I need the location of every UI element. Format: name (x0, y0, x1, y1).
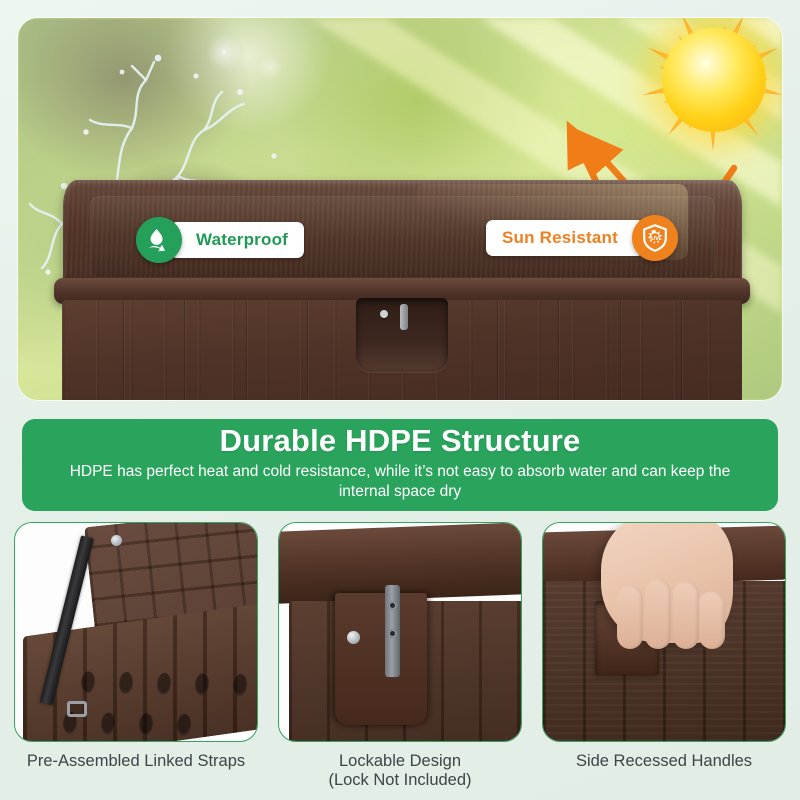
product-hero-image: Waterproof Sun Resistant UV (18, 18, 782, 400)
water-drop-icon (136, 217, 182, 263)
banner-subtitle: HDPE has perfect heat and cold resistanc… (46, 462, 754, 501)
lock-hole-icon (380, 310, 388, 318)
hasp-screw-icon (347, 631, 360, 644)
badge-sun-resistant-label: Sun Resistant (486, 220, 644, 256)
strap-screw-icon (111, 535, 122, 546)
feature-image-handles (542, 522, 786, 742)
feature-caption-lock: Lockable Design (Lock Not Included) (278, 752, 522, 791)
feature-panel-row: Pre-Assembled Linked Straps Lockable Des… (0, 522, 800, 800)
badge-waterproof-label: Waterproof (170, 222, 304, 258)
lid-edge (278, 522, 522, 604)
feature-caption-handles: Side Recessed Handles (542, 752, 786, 771)
metal-hasp-icon (385, 585, 400, 677)
banner-title: Durable HDPE Structure (220, 425, 581, 458)
feature-panel-handles: Side Recessed Handles (542, 522, 786, 771)
uv-shield-icon: UV (632, 215, 678, 261)
badge-sun-resistant: Sun Resistant UV (486, 216, 678, 260)
feature-caption-straps: Pre-Assembled Linked Straps (14, 752, 258, 771)
badge-waterproof: Waterproof (136, 218, 304, 262)
feature-panel-lock: Lockable Design (Lock Not Included) (278, 522, 522, 791)
strap-buckle-icon (67, 701, 87, 717)
deck-box-body (62, 300, 742, 400)
feature-image-lock (278, 522, 522, 742)
deck-box-product (18, 180, 782, 400)
hdpe-banner: Durable HDPE Structure HDPE has perfect … (22, 419, 778, 511)
hand-graphic (601, 522, 733, 643)
feature-panel-straps: Pre-Assembled Linked Straps (14, 522, 258, 771)
lock-flap (335, 593, 427, 725)
front-latch-recess (356, 298, 448, 372)
svg-text:UV: UV (651, 236, 659, 242)
latch-tab-icon (400, 304, 408, 330)
feature-image-straps (14, 522, 258, 742)
